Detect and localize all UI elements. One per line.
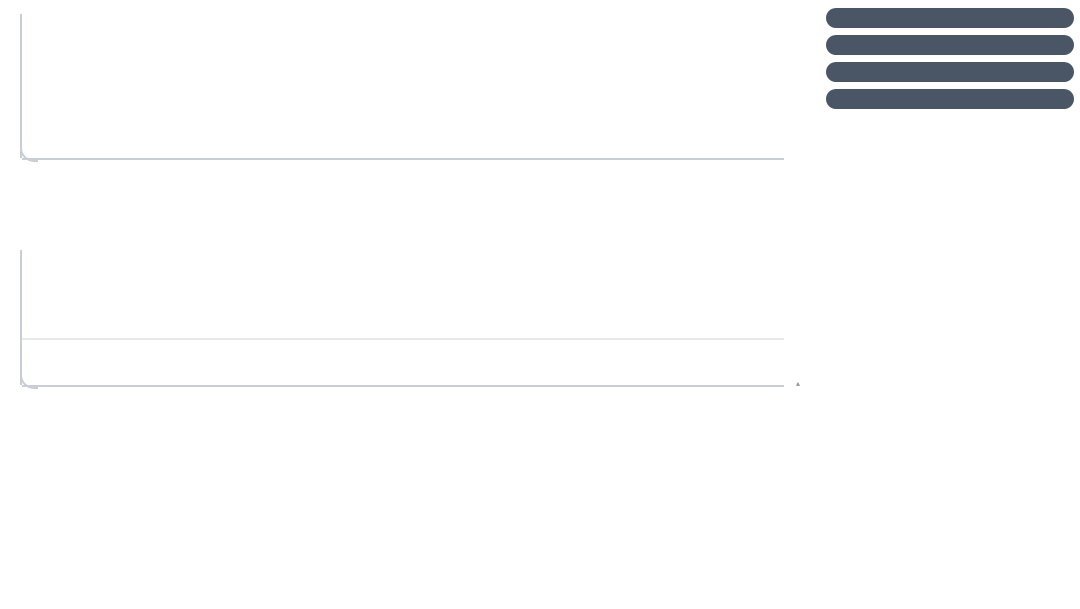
summary-panel bbox=[826, 8, 1074, 109]
top-chart-x-labels bbox=[22, 160, 782, 182]
top-chart-plot-area bbox=[22, 6, 782, 158]
summary-box-therapeutics bbox=[826, 62, 1074, 82]
bottom-chart-zero-line bbox=[22, 338, 784, 340]
bottom-chart: ▴ bbox=[8, 228, 798, 408]
summary-box-vaccine bbox=[826, 35, 1074, 55]
summary-box-total bbox=[826, 8, 1074, 28]
bottom-chart-plot-area bbox=[22, 250, 784, 385]
infographic-root: ▴ bbox=[0, 0, 1080, 609]
bottom-chart-x-labels bbox=[22, 388, 782, 410]
top-chart bbox=[8, 6, 798, 166]
bottom-chart-axis-tick: ▴ bbox=[796, 379, 800, 388]
bottom-chart-x-axis bbox=[22, 385, 784, 387]
summary-box-disruption bbox=[826, 89, 1074, 109]
